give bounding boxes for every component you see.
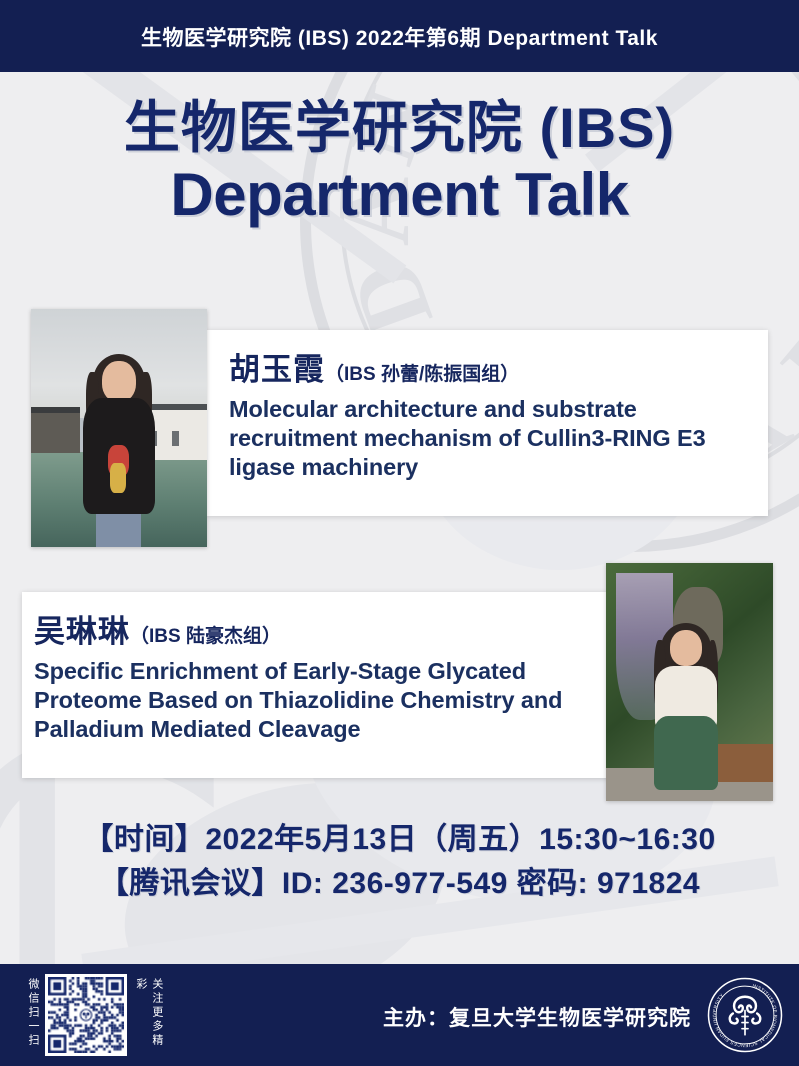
wechat-qr-code[interactable] (45, 974, 127, 1056)
footer-band: 微信扫一扫 关注更多精彩 主办：复旦大学生物医学研究院 INSTITUTE OF… (0, 964, 799, 1066)
photo1-face (102, 361, 136, 402)
poster-root: FUDANUNIVERSITY ℂ 生物医学研究院 (IBS) 2022年第6期… (0, 0, 799, 1066)
speaker-card-2: 吴琳琳（IBS 陆豪杰组） Specific Enrichment of Ear… (22, 592, 609, 778)
qr-left-label: 微信扫一扫 (24, 978, 40, 1052)
qr-group: 微信扫一扫 关注更多精彩 (24, 970, 164, 1060)
speaker-2-name-row: 吴琳琳（IBS 陆豪杰组） (34, 606, 591, 651)
meeting-line: 【腾讯会议】ID: 236-977-549 密码: 971824 (0, 862, 799, 906)
host-line: 主办：复旦大学生物医学研究院 (383, 1002, 691, 1032)
photo1-person (80, 361, 157, 547)
speaker-1-name: 胡玉霞 (229, 352, 325, 387)
photo1-shirt (83, 398, 154, 513)
banner-title: 生物医学研究院 (IBS) 2022年第6期 Department Talk (0, 22, 799, 52)
speaker-1-name-row: 胡玉霞（IBS 孙蕾/陈振国组） (229, 344, 750, 389)
speaker-2-name: 吴琳琳 (34, 614, 130, 649)
main-title-block: 生物医学研究院 (IBS) Department Talk (0, 96, 799, 228)
photo1-building-left (31, 407, 80, 453)
top-banner: 生物医学研究院 (IBS) 2022年第6期 Department Talk (0, 0, 799, 72)
seal-icon: INSTITUTE OF BIOMEDICAL SCIENCES FUDAN U… (707, 977, 783, 1053)
photo2-skirt (654, 716, 719, 789)
meeting-info-block: 【时间】2022年5月13日（周五）15:30~16:30 【腾讯会议】ID: … (0, 818, 799, 906)
speaker-photo-2 (606, 563, 773, 801)
qr-canvas (48, 977, 124, 1053)
title-english: Department Talk (0, 161, 799, 228)
speaker-2-topic: Specific Enrichment of Early-Stage Glyca… (34, 657, 591, 744)
speaker-1-affiliation: （IBS 孙蕾/陈振国组） (325, 364, 519, 385)
qr-right-label: 关注更多精彩 (132, 978, 164, 1052)
speaker-photo-1 (31, 309, 207, 547)
speaker-card-1: 胡玉霞（IBS 孙蕾/陈振国组） Molecular architecture … (207, 330, 768, 516)
photo2-person (649, 630, 722, 797)
time-line: 【时间】2022年5月13日（周五）15:30~16:30 (0, 818, 799, 862)
photo1-doll (110, 463, 126, 493)
photo2-face (670, 630, 702, 667)
speaker-1-topic: Molecular architecture and substrate rec… (229, 395, 750, 482)
title-chinese: 生物医学研究院 (IBS) (0, 96, 799, 161)
speaker-2-affiliation: （IBS 陆豪杰组） (130, 626, 281, 647)
photo1-window-3 (172, 431, 178, 446)
photo1-jeans (96, 514, 141, 547)
